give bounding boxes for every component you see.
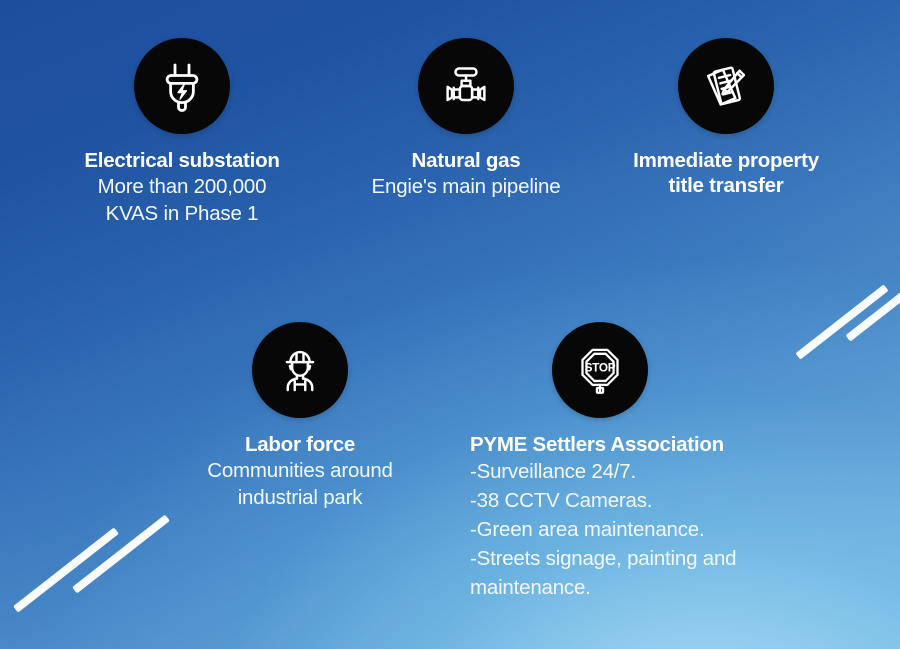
decorative-stripe-bottom-left-1 [13, 527, 119, 612]
icon-badge [418, 38, 514, 134]
document-pencil-icon [698, 58, 754, 114]
feature-subtitle: More than 200,000 KVAS in Phase 1 [36, 173, 328, 227]
feature-subtitle: Engie's main pipeline [348, 173, 584, 200]
icon-badge [252, 322, 348, 418]
bullet-item: -Surveillance 24/7. [470, 457, 830, 486]
feature-title: Immediate property title transfer [600, 148, 852, 198]
decorative-stripe-top-right-2 [845, 266, 900, 341]
feature-subtitle: Communities around industrial park [182, 457, 418, 511]
feature-pyme-settlers-association: STOP PYME Settlers Association -Surveill… [470, 322, 830, 602]
stop-sign-icon: STOP [572, 342, 628, 398]
feature-immediate-property-title-transfer: Immediate property title transfer [600, 38, 852, 198]
bullet-item: -Green area maintenance. [470, 515, 830, 544]
feature-title: Labor force [182, 432, 418, 457]
icon-badge: STOP [552, 322, 648, 418]
slide-canvas: Electrical substation More than 200,000 … [0, 0, 900, 649]
construction-worker-icon [272, 342, 328, 398]
bullet-item: -Streets signage, painting and maintenan… [470, 544, 830, 602]
feature-title: Natural gas [348, 148, 584, 173]
feature-electrical-substation: Electrical substation More than 200,000 … [36, 38, 328, 227]
bullet-item: -38 CCTV Cameras. [470, 486, 830, 515]
feature-labor-force: Labor force Communities around industria… [182, 322, 418, 511]
icon-badge [678, 38, 774, 134]
electric-plug-icon [154, 58, 210, 114]
svg-text:STOP: STOP [585, 360, 616, 374]
icon-badge [134, 38, 230, 134]
feature-title: Electrical substation [36, 148, 328, 173]
feature-natural-gas: Natural gas Engie's main pipeline [348, 38, 584, 200]
decorative-stripe-bottom-left-2 [72, 515, 170, 594]
feature-title: PYME Settlers Association [470, 432, 830, 457]
pipeline-valve-icon [438, 58, 494, 114]
